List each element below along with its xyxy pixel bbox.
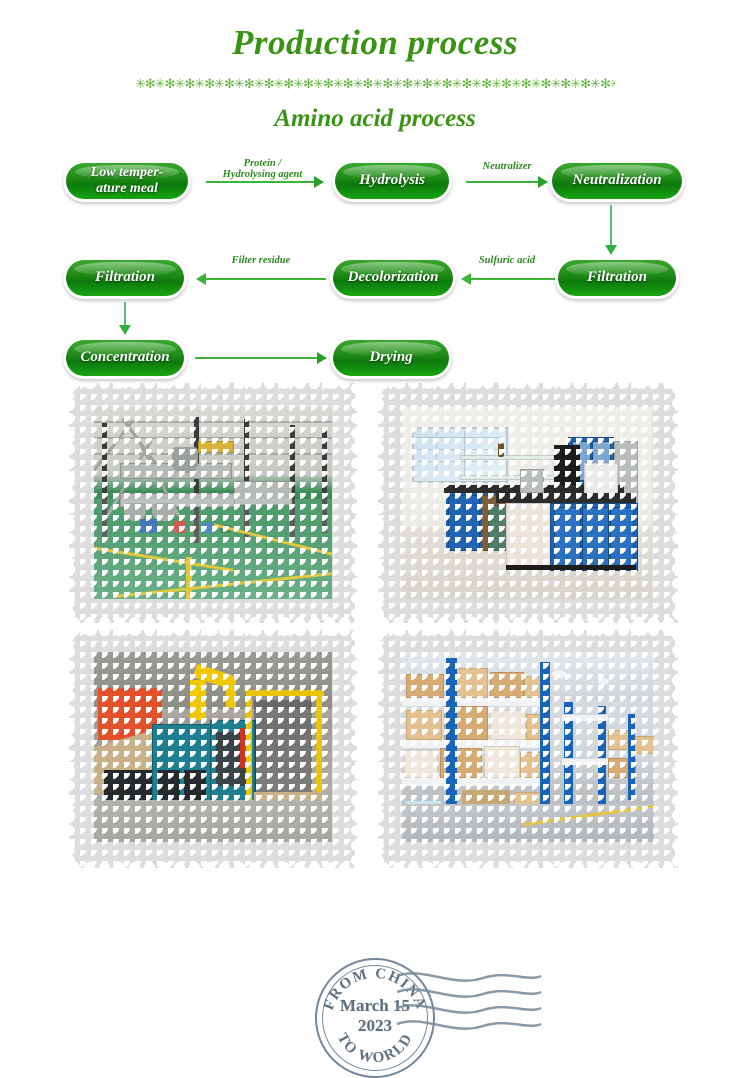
svg-text:FROM CHINA: FROM CHINA <box>321 966 429 1013</box>
page-header: Production process ✳✻✳✻✳✻✳✻✳✻✳✻✳✻✳✻✳✻✳✻✳… <box>0 0 750 133</box>
page-title: Production process <box>0 24 750 63</box>
flow-node-filtration-right[interactable]: Filtration <box>555 257 679 299</box>
postmark-outer-ring <box>315 958 435 1078</box>
flow-node-label: Concentration <box>72 349 177 365</box>
page-subtitle: Amino acid process <box>0 105 750 133</box>
flow-node-label: Neutralization <box>564 172 669 188</box>
arrow-hydrolysis-to-neutralization <box>466 176 548 188</box>
flow-node-label: Drying <box>361 349 420 365</box>
postmark-arc-text: FROM CHINA TO WORLD <box>315 958 435 1078</box>
flow-node-concentration[interactable]: Concentration <box>63 337 187 379</box>
flow-node-label: Filtration <box>87 269 163 285</box>
flow-node-label: Filtration <box>579 269 655 285</box>
arrow-decolorization-to-filtration <box>196 273 326 285</box>
flow-node-hydrolysis[interactable]: Hydrolysis <box>332 160 452 202</box>
flow-node-label: Decolorization <box>340 269 447 285</box>
stamp-photo-factory-hall[interactable] <box>69 383 357 623</box>
stamp-photo-laboratory[interactable] <box>378 383 678 623</box>
postmark-date-line1: March 15 <box>315 996 435 1016</box>
arrow-filtration-to-concentration <box>118 302 132 335</box>
arrow-concentration-to-drying <box>195 352 327 364</box>
edge-label-filter-residue: Filter residue <box>200 255 322 267</box>
flow-node-low-temperature-meal[interactable]: Low temper- ature meal <box>63 160 191 202</box>
postmark-inner-ring <box>322 965 428 1071</box>
photo-laboratory <box>402 407 652 599</box>
arrow-meal-to-hydrolysis <box>206 176 324 188</box>
postmark-date: March 15 2023 <box>315 996 435 1035</box>
flow-node-label: Low temper- ature meal <box>83 165 172 195</box>
flow-node-decolorization[interactable]: Decolorization <box>330 257 456 299</box>
photo-warehouse <box>402 652 654 842</box>
edge-label-neutralizer: Neutralizer <box>467 161 547 173</box>
arrow-filtration-to-decolorization <box>461 273 555 285</box>
process-flowchart: Low temper- ature meal Protein / Hydroly… <box>0 147 750 382</box>
flow-node-drying[interactable]: Drying <box>330 337 452 379</box>
stamp-photo-warehouse[interactable] <box>378 630 678 868</box>
photo-factory-hall <box>94 407 332 599</box>
arrow-neutralization-to-filtration <box>604 205 618 255</box>
flow-node-filtration-left[interactable]: Filtration <box>63 257 187 299</box>
svg-text:TO WORLD: TO WORLD <box>334 1031 416 1067</box>
postmark-stamp: FROM CHINA TO WORLD March 15 2023 <box>315 958 435 1078</box>
postmark-date-line2: 2023 <box>315 1016 435 1036</box>
postmark-wave-lines <box>393 966 543 1036</box>
stamp-photo-palletizing-robot[interactable] <box>69 630 357 868</box>
ornament-divider: ✳✻✳✻✳✻✳✻✳✻✳✻✳✻✳✻✳✻✳✻✳✻✳✻✳✻✳✻✳✻✳✻✳✻✳✻✳✻✳✻… <box>135 73 615 97</box>
flow-node-neutralization[interactable]: Neutralization <box>549 160 685 202</box>
edge-label-sulfuric-acid: Sulfuric acid <box>462 255 552 267</box>
photo-gallery: FROM CHINA TO WORLD March 15 2023 <box>0 378 750 878</box>
flow-node-label: Hydrolysis <box>351 172 433 188</box>
photo-palletizing-robot <box>94 652 332 842</box>
